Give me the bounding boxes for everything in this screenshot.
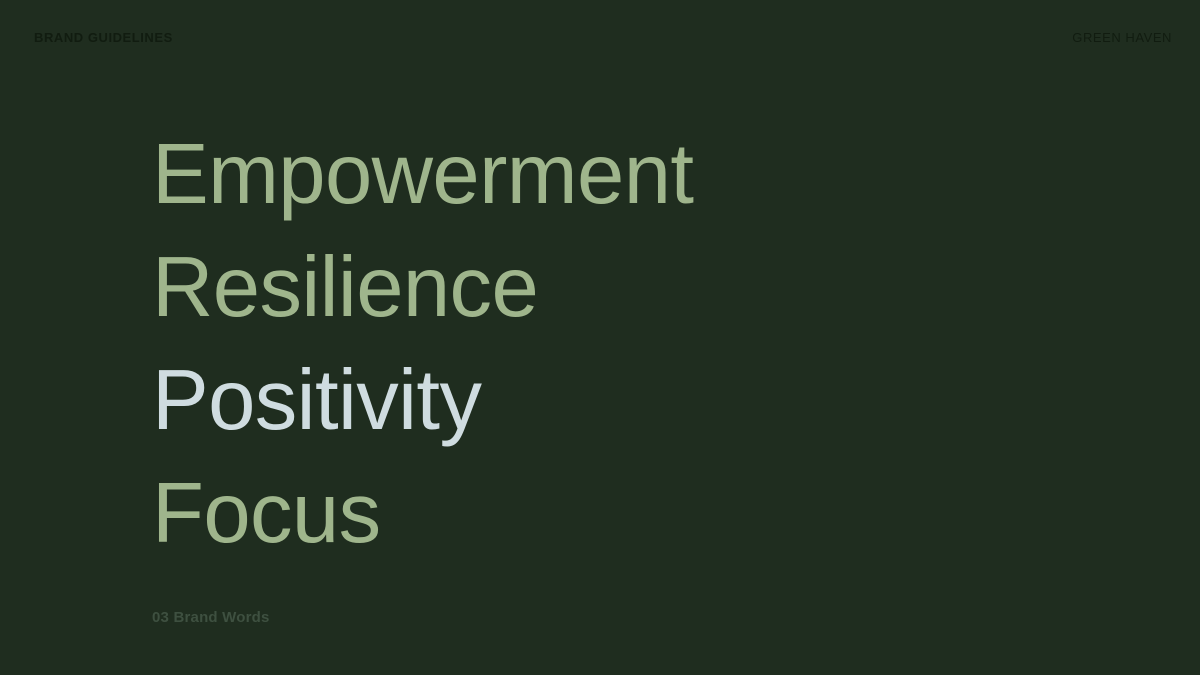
brand-guidelines-slide: BRAND GUIDELINES GREEN HAVEN Empowerment… — [0, 0, 1200, 675]
slide-header: BRAND GUIDELINES GREEN HAVEN — [0, 0, 1200, 74]
brand-word-item-highlighted: Positivity — [152, 344, 1052, 457]
header-left-label: BRAND GUIDELINES — [34, 31, 173, 44]
header-right-brand-label: GREEN HAVEN — [1072, 31, 1172, 44]
brand-word-item: Empowerment — [152, 118, 1052, 231]
brand-word-item: Resilience — [152, 231, 1052, 344]
footer-section-label: 03 Brand Words — [152, 609, 270, 627]
brand-word-list: Empowerment Resilience Positivity Focus — [152, 118, 1052, 570]
brand-word-item: Focus — [152, 457, 1052, 570]
slide-footer: 03 Brand Words — [152, 609, 270, 627]
